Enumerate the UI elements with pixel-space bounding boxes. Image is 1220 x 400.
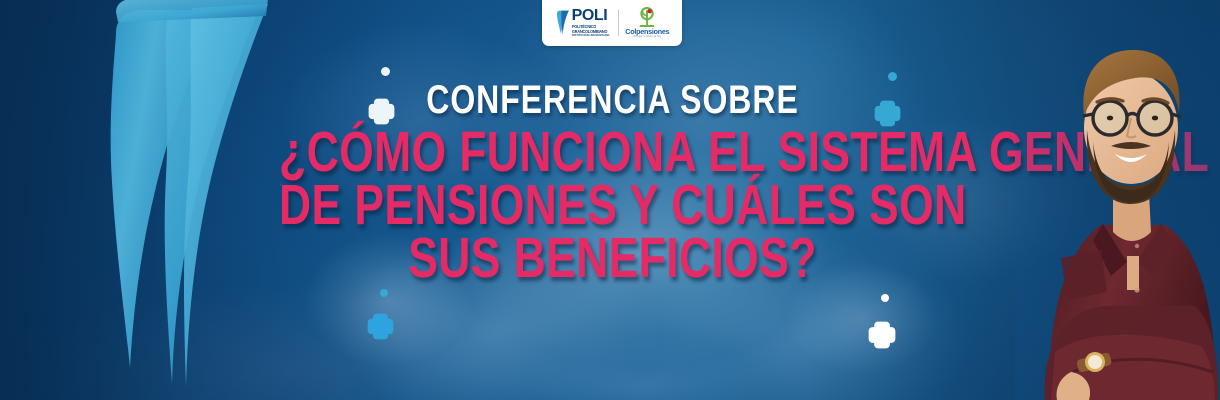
poli-wordmark: POLI POLITÉCNICO GRANCOLOMBIANO INSTITUC… — [572, 8, 613, 38]
dot-top-left — [381, 67, 390, 76]
headline-kicker: CONFERENCIA SOBRE — [271, 78, 955, 122]
plus-lower-right — [868, 321, 894, 347]
headline-line-2: DE PENSIONES Y CUÁLES SON — [279, 179, 946, 232]
poli-swoosh-mark — [555, 9, 570, 36]
conference-banner: POLI POLITÉCNICO GRANCOLOMBIANO INSTITUC… — [0, 0, 1220, 400]
headline-block: CONFERENCIA SOBRE ¿CÓMO FUNCIONA EL SIST… — [185, 78, 1040, 285]
dot-lower-left — [380, 289, 388, 297]
colpensiones-word: Colpensiones — [625, 28, 669, 35]
headline-line-1: ¿CÓMO FUNCIONA EL SISTEMA GENERAL — [279, 126, 946, 179]
poli-word: POLI — [572, 8, 613, 24]
colpensiones-tree-icon — [636, 7, 658, 27]
logo-bar: POLI POLITÉCNICO GRANCOLOMBIANO INSTITUC… — [542, 0, 682, 46]
poli-logo: POLI POLITÉCNICO GRANCOLOMBIANO INSTITUC… — [555, 8, 613, 38]
presenter-photo — [1015, 0, 1220, 400]
headline-line-3: SUS BENEFICIOS? — [279, 232, 946, 285]
logo-divider — [618, 10, 619, 36]
plus-lower-left — [367, 313, 393, 339]
dot-lower-right — [881, 294, 889, 302]
colpensiones-tagline: Por que tu futuro es hoy — [634, 36, 662, 39]
poli-subtitle-3: INSTITUCIÓN UNIVERSITARIA — [572, 34, 609, 37]
colpensiones-logo: Colpensiones Por que tu futuro es hoy — [625, 7, 669, 39]
